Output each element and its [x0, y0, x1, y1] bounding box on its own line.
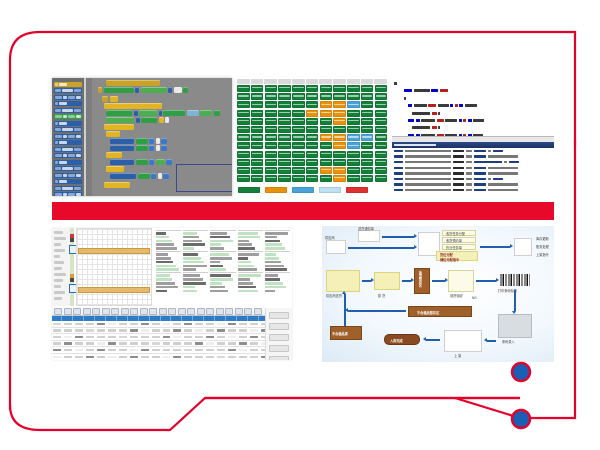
grid-cell-r9-c6[interactable]: [320, 159, 333, 166]
grid-cell-r9-c1[interactable]: [251, 159, 264, 166]
grid-col-6[interactable]: [118, 316, 128, 321]
grid-cell-r8-c2[interactable]: [265, 151, 278, 158]
grid-col-14[interactable]: [205, 316, 215, 321]
grid-col-4[interactable]: [96, 316, 106, 321]
table-cell[interactable]: [206, 329, 214, 331]
table-cell[interactable]: [53, 349, 61, 351]
grid-cell-r5-c9[interactable]: [361, 126, 374, 133]
grid-toolbar-button-1[interactable]: [64, 308, 72, 315]
output-row-7[interactable]: [392, 188, 554, 192]
table-cell[interactable]: [163, 356, 171, 358]
table-cell[interactable]: [75, 349, 83, 351]
table-cell[interactable]: [152, 329, 160, 331]
table-cell[interactable]: [173, 323, 181, 325]
planner-card-column-3[interactable]: [238, 230, 263, 304]
table-cell[interactable]: [217, 336, 225, 338]
table-cell[interactable]: [217, 329, 225, 331]
table-cell[interactable]: [206, 356, 214, 358]
grid-cell-r7-c0[interactable]: [237, 142, 250, 149]
planner-card-group[interactable]: [238, 230, 263, 250]
table-cell[interactable]: [130, 336, 138, 338]
grid-toolbar-button-15[interactable]: [197, 308, 205, 315]
table-cell[interactable]: [86, 323, 94, 325]
table-cell[interactable]: [228, 336, 236, 338]
grid-cell-r6-c8[interactable]: [347, 134, 360, 141]
grid-cell-r6-c10[interactable]: [375, 134, 388, 141]
table-row[interactable]: [52, 334, 292, 341]
table-cell[interactable]: [239, 323, 247, 325]
palette-block-15[interactable]: [54, 179, 82, 184]
table-cell[interactable]: [195, 323, 203, 325]
grid-cell-r10-c1[interactable]: [251, 167, 264, 174]
planner-card-group[interactable]: [265, 251, 290, 271]
grid-cell-r10-c10[interactable]: [375, 167, 388, 174]
grid-toolbar-button-17[interactable]: [216, 308, 224, 315]
palette-block-5[interactable]: [54, 114, 82, 119]
blocks-canvas[interactable]: [92, 78, 232, 196]
grid-cell-r3-c9[interactable]: [361, 110, 374, 117]
output-row-2[interactable]: [392, 160, 554, 164]
table-cell[interactable]: [97, 349, 105, 351]
table-cell[interactable]: [119, 356, 127, 358]
code-line-2[interactable]: [394, 96, 552, 101]
grid-cell-r2-c5[interactable]: [306, 101, 319, 108]
grid-cell-r3-c10[interactable]: [375, 110, 388, 117]
planner-grid-chart[interactable]: [76, 228, 152, 306]
grid-col-11[interactable]: [172, 316, 182, 321]
grid-cell-r9-c9[interactable]: [361, 159, 374, 166]
grid-header-row[interactable]: [52, 316, 292, 321]
table-cell[interactable]: [108, 356, 116, 358]
grid-cell-r7-c3[interactable]: [278, 142, 291, 149]
output-row-4[interactable]: [392, 171, 554, 175]
palette-block-6[interactable]: [54, 121, 82, 126]
palette-block-3[interactable]: [54, 101, 82, 106]
grid-cell-r1-c5[interactable]: [306, 93, 319, 100]
table-cell[interactable]: [184, 356, 192, 358]
planner-card-group[interactable]: [210, 272, 235, 292]
table-cell[interactable]: [130, 329, 138, 331]
grid-cell-r8-c7[interactable]: [333, 151, 346, 158]
table-cell[interactable]: [217, 342, 225, 344]
grid-cell-r4-c3[interactable]: [278, 118, 291, 125]
table-cell[interactable]: [119, 336, 127, 338]
grid-cell-r4-c4[interactable]: [292, 118, 305, 125]
table-cell[interactable]: [195, 356, 203, 358]
grid-cell-r6-c3[interactable]: [278, 134, 291, 141]
grid-cell-r6-c9[interactable]: [361, 134, 374, 141]
grid-cell-r9-c5[interactable]: [306, 159, 319, 166]
planner-card-column-4[interactable]: [265, 230, 290, 304]
grid-body-rows[interactable]: [52, 321, 292, 360]
grid-col-9[interactable]: [151, 316, 161, 321]
table-cell[interactable]: [206, 349, 214, 351]
grid-cell-r11-c8[interactable]: [347, 175, 360, 182]
output-row-3[interactable]: [392, 166, 554, 170]
grid-cell-r5-c3[interactable]: [278, 126, 291, 133]
grid-toolbar-button-14[interactable]: [187, 308, 195, 315]
blocks-palette[interactable]: [52, 78, 86, 196]
grid-col-12[interactable]: [183, 316, 193, 321]
grid-toolbar-button-20[interactable]: [244, 308, 252, 315]
table-cell[interactable]: [250, 342, 258, 344]
table-cell[interactable]: [163, 336, 171, 338]
grid-cell-r3-c6[interactable]: [320, 110, 333, 117]
table-cell[interactable]: [64, 323, 72, 325]
grid-cell-r10-c7[interactable]: [333, 167, 346, 174]
table-cell[interactable]: [141, 349, 149, 351]
grid-toolbar-button-19[interactable]: [235, 308, 243, 315]
table-cell[interactable]: [141, 329, 149, 331]
grid-cell-r10-c2[interactable]: [265, 167, 278, 174]
grid-cell-r3-c3[interactable]: [278, 110, 291, 117]
grid-toolbar-button-2[interactable]: [73, 308, 81, 315]
table-cell[interactable]: [75, 323, 83, 325]
grid-cell-r3-c2[interactable]: [265, 110, 278, 117]
grid-col-15[interactable]: [216, 316, 226, 321]
table-cell[interactable]: [173, 336, 181, 338]
grid-cell-r5-c10[interactable]: [375, 126, 388, 133]
planner-card-group[interactable]: [183, 272, 208, 292]
grid-cell-r4-c7[interactable]: [333, 118, 346, 125]
grid-cell-r9-c0[interactable]: [237, 159, 250, 166]
grid-cell-r3-c7[interactable]: [333, 110, 346, 117]
grid-cell-r3-c1[interactable]: [251, 110, 264, 117]
grid-cell-r3-c4[interactable]: [292, 110, 305, 117]
table-cell[interactable]: [108, 323, 116, 325]
table-cell[interactable]: [239, 329, 247, 331]
slot-occupancy-grid[interactable]: [236, 78, 388, 198]
table-cell[interactable]: [217, 349, 225, 351]
table-cell[interactable]: [108, 336, 116, 338]
planner-card-group[interactable]: [156, 251, 181, 271]
palette-block-12[interactable]: [54, 160, 82, 165]
output-row-0[interactable]: [392, 149, 554, 153]
palette-block-11[interactable]: [54, 153, 82, 158]
table-cell[interactable]: [206, 342, 214, 344]
table-cell[interactable]: [239, 342, 247, 344]
grid-cell-r0-c7[interactable]: [333, 85, 346, 92]
table-cell[interactable]: [228, 342, 236, 344]
grid-cell-r5-c4[interactable]: [292, 126, 305, 133]
grid-cell-r0-c1[interactable]: [251, 85, 264, 92]
planner-card-group[interactable]: [210, 230, 235, 250]
table-cell[interactable]: [217, 323, 225, 325]
grid-col-13[interactable]: [194, 316, 204, 321]
grid-cell-r1-c2[interactable]: [265, 93, 278, 100]
grid-toolbar-button-18[interactable]: [225, 308, 233, 315]
table-cell[interactable]: [163, 323, 171, 325]
grid-cell-r3-c5[interactable]: [306, 110, 319, 117]
table-cell[interactable]: [86, 342, 94, 344]
grid-cell-r10-c9[interactable]: [361, 167, 374, 174]
grid-toolbar-button-8[interactable]: [130, 308, 138, 315]
grid-cell-r11-c2[interactable]: [265, 175, 278, 182]
grid-toolbar-button-21[interactable]: [254, 308, 262, 315]
planner-marker-dark[interactable]: [70, 238, 74, 242]
table-cell[interactable]: [152, 323, 160, 325]
code-line-4[interactable]: [394, 111, 552, 116]
output-log-rows[interactable]: [392, 148, 554, 196]
table-cell[interactable]: [239, 356, 247, 358]
planner-card-group[interactable]: [156, 230, 181, 250]
grid-cell-r0-c8[interactable]: [347, 85, 360, 92]
grid-col-3[interactable]: [85, 316, 95, 321]
grid-cell-r1-c7[interactable]: [333, 93, 346, 100]
table-cell[interactable]: [141, 356, 149, 358]
grid-cell-r0-c10[interactable]: [375, 85, 388, 92]
grid-toolbar-button-5[interactable]: [102, 308, 110, 315]
grid-col-0[interactable]: [52, 316, 62, 321]
grid-cell-r0-c0[interactable]: [237, 85, 250, 92]
table-cell[interactable]: [86, 329, 94, 331]
grid-cell-r8-c5[interactable]: [306, 151, 319, 158]
palette-block-0[interactable]: [54, 82, 82, 87]
grid-cell-r4-c10[interactable]: [375, 118, 388, 125]
code-editor-screenshot[interactable]: [392, 78, 554, 196]
grid-cell-r1-c9[interactable]: [361, 93, 374, 100]
palette-block-1[interactable]: [54, 88, 82, 93]
grid-cell-r8-c10[interactable]: [375, 151, 388, 158]
grid-cell-r5-c8[interactable]: [347, 126, 360, 133]
grid-cell-r4-c1[interactable]: [251, 118, 264, 125]
grid-cell-r9-c10[interactable]: [375, 159, 388, 166]
table-cell[interactable]: [184, 342, 192, 344]
output-row-1[interactable]: [392, 155, 554, 159]
planner-card-column-2[interactable]: [210, 230, 235, 304]
grid-cell-r6-c2[interactable]: [265, 134, 278, 141]
grid-cell-r7-c6[interactable]: [320, 142, 333, 149]
table-cell[interactable]: [184, 323, 192, 325]
grid-cell-r11-c4[interactable]: [292, 175, 305, 182]
table-cell[interactable]: [75, 342, 83, 344]
code-source-area[interactable]: [392, 78, 554, 136]
grid-cell-r0-c2[interactable]: [265, 85, 278, 92]
table-cell[interactable]: [152, 356, 160, 358]
planner-card-group[interactable]: [238, 272, 263, 292]
table-row[interactable]: [52, 347, 292, 354]
planner-card-group[interactable]: [238, 251, 263, 271]
table-cell[interactable]: [195, 342, 203, 344]
grid-toolbar-button-3[interactable]: [83, 308, 91, 315]
grid-cell-r3-c0[interactable]: [237, 110, 250, 117]
grid-cell-r0-c9[interactable]: [361, 85, 374, 92]
planner-marker-dark-2[interactable]: [70, 278, 74, 282]
table-cell[interactable]: [173, 342, 181, 344]
grid-cell-r0-c6[interactable]: [320, 85, 333, 92]
grid-cell-r9-c7[interactable]: [333, 159, 346, 166]
table-cell[interactable]: [130, 356, 138, 358]
grid-cell-r5-c0[interactable]: [237, 126, 250, 133]
table-cell[interactable]: [86, 336, 94, 338]
table-cell[interactable]: [195, 349, 203, 351]
grid-toolbar-button-4[interactable]: [92, 308, 100, 315]
grid-cell-r1-c8[interactable]: [347, 93, 360, 100]
table-cell[interactable]: [97, 342, 105, 344]
table-cell[interactable]: [108, 342, 116, 344]
palette-block-8[interactable]: [54, 134, 82, 139]
table-cell[interactable]: [53, 329, 61, 331]
grid-cell-r6-c4[interactable]: [292, 134, 305, 141]
code-line-1[interactable]: [394, 88, 552, 93]
palette-block-16[interactable]: [54, 186, 82, 191]
grid-cell-r2-c7[interactable]: [333, 101, 346, 108]
grid-toolbar-button-9[interactable]: [140, 308, 148, 315]
grid-cell-r10-c4[interactable]: [292, 167, 305, 174]
table-cell[interactable]: [250, 323, 258, 325]
grid-cell-r4-c8[interactable]: [347, 118, 360, 125]
table-cell[interactable]: [75, 329, 83, 331]
table-cell[interactable]: [217, 356, 225, 358]
grid-col-17[interactable]: [238, 316, 248, 321]
grid-toolbar-button-6[interactable]: [111, 308, 119, 315]
grid-cell-r1-c6[interactable]: [320, 93, 333, 100]
grid-toolbar-button-0[interactable]: [54, 308, 62, 315]
table-cell[interactable]: [141, 323, 149, 325]
grid-cell-r4-c5[interactable]: [306, 118, 319, 125]
grid-cell-r7-c7[interactable]: [333, 142, 346, 149]
table-row[interactable]: [52, 341, 292, 348]
grid-cell-r11-c1[interactable]: [251, 175, 264, 182]
table-cell[interactable]: [206, 336, 214, 338]
table-cell[interactable]: [97, 323, 105, 325]
grid-cell-r8-c8[interactable]: [347, 151, 360, 158]
grid-cell-r7-c4[interactable]: [292, 142, 305, 149]
grid-cell-r5-c5[interactable]: [306, 126, 319, 133]
code-line-6[interactable]: [394, 125, 552, 130]
grid-cell-r7-c1[interactable]: [251, 142, 264, 149]
grid-toolbar-button-11[interactable]: [159, 308, 167, 315]
grid-cell-r8-c3[interactable]: [278, 151, 291, 158]
table-cell[interactable]: [228, 356, 236, 358]
table-cell[interactable]: [53, 323, 61, 325]
grid-cell-r11-c5[interactable]: [306, 175, 319, 182]
planner-card-group[interactable]: [265, 230, 290, 250]
table-cell[interactable]: [97, 329, 105, 331]
planner-card-group[interactable]: [156, 272, 181, 292]
planner-card-columns[interactable]: [154, 228, 292, 306]
table-cell[interactable]: [97, 356, 105, 358]
palette-block-10[interactable]: [54, 147, 82, 152]
grid-cell-r10-c0[interactable]: [237, 167, 250, 174]
table-cell[interactable]: [228, 329, 236, 331]
grid-cell-r1-c3[interactable]: [278, 93, 291, 100]
table-cell[interactable]: [152, 342, 160, 344]
grid-toolbar-button-10[interactable]: [149, 308, 157, 315]
planner-card-column-0[interactable]: [156, 230, 181, 304]
grid-cell-r6-c0[interactable]: [237, 134, 250, 141]
code-line-0[interactable]: [394, 81, 552, 86]
table-cell[interactable]: [184, 336, 192, 338]
planner-card-column-1[interactable]: [183, 230, 208, 304]
grid-cell-r11-c3[interactable]: [278, 175, 291, 182]
grid-cell-r4-c2[interactable]: [265, 118, 278, 125]
grid-cell-r4-c0[interactable]: [237, 118, 250, 125]
inbound-process-flow-diagram[interactable]: 送货通知单 供应商 收货任务分配 收货预约单 作业任务单 货位分配 储位分配指令…: [322, 226, 554, 362]
grid-cell-r4-c9[interactable]: [361, 118, 374, 125]
table-cell[interactable]: [64, 336, 72, 338]
output-row-5[interactable]: [392, 177, 554, 181]
grid-col-5[interactable]: [107, 316, 117, 321]
table-cell[interactable]: [163, 342, 171, 344]
table-cell[interactable]: [250, 356, 258, 358]
blocks-editor-screenshot[interactable]: [52, 78, 232, 196]
grid-cell-r7-c2[interactable]: [265, 142, 278, 149]
grid-toolbar-button-12[interactable]: [168, 308, 176, 315]
grid-cell-r10-c6[interactable]: [320, 167, 333, 174]
grid-col-18[interactable]: [249, 316, 259, 321]
palette-block-4[interactable]: [54, 108, 82, 113]
table-cell[interactable]: [64, 342, 72, 344]
table-cell[interactable]: [97, 336, 105, 338]
table-row[interactable]: [52, 321, 292, 328]
table-cell[interactable]: [130, 342, 138, 344]
grid-cell-r9-c4[interactable]: [292, 159, 305, 166]
grid-cell-r2-c2[interactable]: [265, 101, 278, 108]
grid-col-8[interactable]: [140, 316, 150, 321]
planner-card-group[interactable]: [183, 251, 208, 271]
grid-cell-r5-c6[interactable]: [320, 126, 333, 133]
table-cell[interactable]: [184, 349, 192, 351]
grid-cell-r7-c5[interactable]: [306, 142, 319, 149]
code-line-5[interactable]: [394, 118, 552, 123]
grid-cell-r8-c0[interactable]: [237, 151, 250, 158]
grid-toolbar-button-7[interactable]: [121, 308, 129, 315]
table-cell[interactable]: [130, 323, 138, 325]
grid-cell-r6-c5[interactable]: [306, 134, 319, 141]
grid-col-1[interactable]: [63, 316, 73, 321]
grid-cell-r1-c0[interactable]: [237, 93, 250, 100]
table-cell[interactable]: [152, 336, 160, 338]
palette-block-9[interactable]: [54, 140, 82, 145]
palette-block-14[interactable]: [54, 173, 82, 178]
grid-cell-r2-c10[interactable]: [375, 101, 388, 108]
grid-cell-r7-c9[interactable]: [361, 142, 374, 149]
grid-cell-r9-c3[interactable]: [278, 159, 291, 166]
table-cell[interactable]: [141, 342, 149, 344]
grid-cell-r1-c1[interactable]: [251, 93, 264, 100]
table-cell[interactable]: [195, 336, 203, 338]
table-cell[interactable]: [173, 329, 181, 331]
table-cell[interactable]: [228, 349, 236, 351]
table-cell[interactable]: [75, 336, 83, 338]
grid-toolbar-button-16[interactable]: [206, 308, 214, 315]
table-cell[interactable]: [119, 323, 127, 325]
grid-cell-r6-c1[interactable]: [251, 134, 264, 141]
grid-cell-r0-c3[interactable]: [278, 85, 291, 92]
grid-cell-r2-c4[interactable]: [292, 101, 305, 108]
grid-cell-r2-c3[interactable]: [278, 101, 291, 108]
grid-col-16[interactable]: [227, 316, 237, 321]
grid-cell-r11-c0[interactable]: [237, 175, 250, 182]
grid-cell-r11-c6[interactable]: [320, 175, 333, 182]
table-cell[interactable]: [64, 349, 72, 351]
table-cell[interactable]: [119, 329, 127, 331]
grid-col-10[interactable]: [162, 316, 172, 321]
grid-cell-r8-c9[interactable]: [361, 151, 374, 158]
grid-cell-r1-c10[interactable]: [375, 93, 388, 100]
grid-cell-r8-c6[interactable]: [320, 151, 333, 158]
table-cell[interactable]: [250, 349, 258, 351]
table-row[interactable]: [52, 354, 292, 360]
table-cell[interactable]: [53, 342, 61, 344]
grid-cell-r0-c4[interactable]: [292, 85, 305, 92]
table-cell[interactable]: [163, 349, 171, 351]
grid-cell-r7-c8[interactable]: [347, 142, 360, 149]
table-cell[interactable]: [141, 336, 149, 338]
table-cell[interactable]: [53, 356, 61, 358]
table-cell[interactable]: [108, 329, 116, 331]
